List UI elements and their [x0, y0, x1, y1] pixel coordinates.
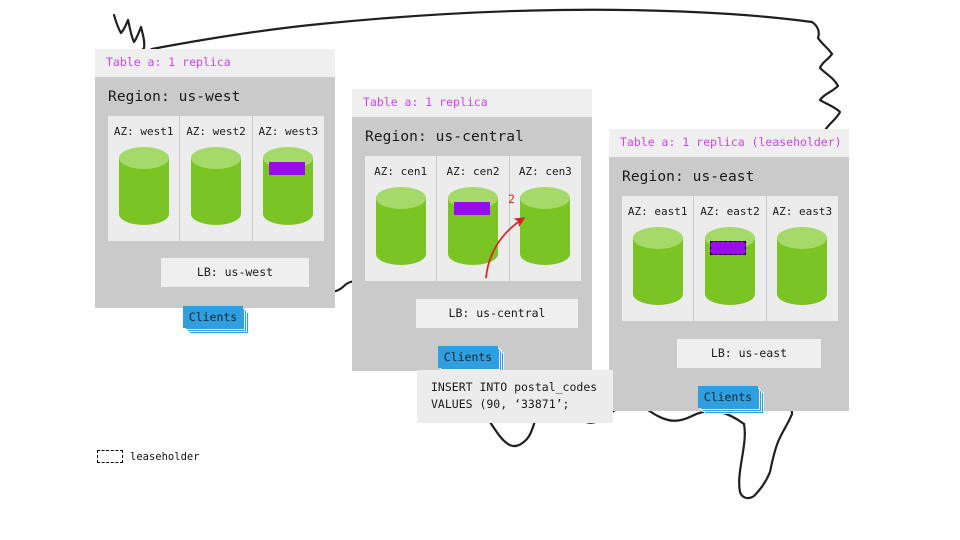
cylinder-icon	[447, 186, 499, 266]
db-cylinder-west3[interactable]	[262, 146, 314, 226]
az-cell-east2[interactable]: AZ: east2	[694, 196, 766, 321]
db-cylinder-east1[interactable]	[632, 226, 684, 306]
az-cell-west1[interactable]: AZ: west1	[108, 116, 180, 241]
replica-marker-west3	[269, 162, 305, 175]
cylinder-icon	[519, 186, 571, 266]
region-panel-us-central: Table a: 1 replica Region: us-central AZ…	[352, 89, 592, 371]
db-cylinder-cen3[interactable]	[519, 186, 571, 266]
panel-header-us-west: Table a: 1 replica	[95, 49, 335, 77]
panel-body-us-east: Region: us-east AZ: east1 AZ: east2	[609, 157, 849, 411]
az-row-us-east: AZ: east1 AZ: east2	[622, 196, 838, 321]
cylinder-icon	[118, 146, 170, 226]
cylinder-icon	[375, 186, 427, 266]
az-label-cen2: AZ: cen2	[437, 165, 508, 178]
az-label-cen3: AZ: cen3	[510, 165, 581, 178]
clients-stack-us-west[interactable]: Clients	[183, 306, 245, 328]
replica-marker-cen2	[454, 202, 490, 215]
panel-header-us-central: Table a: 1 replica	[352, 89, 592, 117]
az-cell-east1[interactable]: AZ: east1	[622, 196, 694, 321]
az-label-west1: AZ: west1	[108, 125, 179, 138]
az-label-east1: AZ: east1	[622, 205, 693, 218]
clients-label[interactable]: Clients	[698, 386, 758, 408]
load-balancer-us-east[interactable]: LB: us-east	[677, 339, 821, 368]
az-row-us-central: AZ: cen1 AZ: cen2	[365, 156, 581, 281]
clients-label[interactable]: Clients	[438, 346, 498, 368]
db-cylinder-cen1[interactable]	[375, 186, 427, 266]
panel-body-us-west: Region: us-west AZ: west1 AZ: west2	[95, 77, 335, 308]
region-title-us-central: Region: us-central	[352, 117, 592, 156]
clients-stack-us-east[interactable]: Clients	[698, 386, 760, 408]
legend-label: leaseholder	[130, 451, 200, 463]
cylinder-icon	[704, 226, 756, 306]
az-cell-cen1[interactable]: AZ: cen1	[365, 156, 437, 281]
db-cylinder-cen2[interactable]	[447, 186, 499, 266]
az-label-east3: AZ: east3	[767, 205, 838, 218]
load-balancer-us-west[interactable]: LB: us-west	[161, 258, 309, 287]
region-title-us-east: Region: us-east	[609, 157, 849, 196]
clients-stack-us-central[interactable]: Clients	[438, 346, 500, 368]
leaseholder-swatch-icon	[97, 450, 123, 463]
sql-statement-box: INSERT INTO postal_codes VALUES (90, ‘33…	[417, 370, 613, 423]
load-balancer-us-central[interactable]: LB: us-central	[416, 299, 578, 328]
region-panel-us-west: Table a: 1 replica Region: us-west AZ: w…	[95, 49, 335, 308]
az-label-west2: AZ: west2	[180, 125, 251, 138]
panel-header-us-east: Table a: 1 replica (leaseholder)	[609, 129, 849, 157]
clients-label[interactable]: Clients	[183, 306, 243, 328]
az-cell-cen3[interactable]: AZ: cen3	[510, 156, 581, 281]
az-row-us-west: AZ: west1 AZ: west2	[108, 116, 324, 241]
db-cylinder-west1[interactable]	[118, 146, 170, 226]
panel-body-us-central: Region: us-central AZ: cen1 AZ: cen2	[352, 117, 592, 371]
az-cell-east3[interactable]: AZ: east3	[767, 196, 838, 321]
az-cell-cen2[interactable]: AZ: cen2	[437, 156, 509, 281]
az-label-east2: AZ: east2	[694, 205, 765, 218]
leaseholder-replica-marker-east2	[710, 241, 746, 255]
db-cylinder-east2[interactable]	[704, 226, 756, 306]
cylinder-icon	[632, 226, 684, 306]
arrow-step-label-2: 2	[508, 192, 515, 206]
az-label-west3: AZ: west3	[253, 125, 324, 138]
az-cell-west3[interactable]: AZ: west3	[253, 116, 324, 241]
az-cell-west2[interactable]: AZ: west2	[180, 116, 252, 241]
diagram-canvas: Table a: 1 replica Region: us-west AZ: w…	[0, 0, 960, 540]
cylinder-icon	[776, 226, 828, 306]
db-cylinder-west2[interactable]	[190, 146, 242, 226]
legend: leaseholder	[97, 450, 200, 463]
cylinder-icon	[190, 146, 242, 226]
az-label-cen1: AZ: cen1	[365, 165, 436, 178]
region-title-us-west: Region: us-west	[95, 77, 335, 116]
db-cylinder-east3[interactable]	[776, 226, 828, 306]
cylinder-icon	[262, 146, 314, 226]
region-panel-us-east: Table a: 1 replica (leaseholder) Region:…	[609, 129, 849, 411]
